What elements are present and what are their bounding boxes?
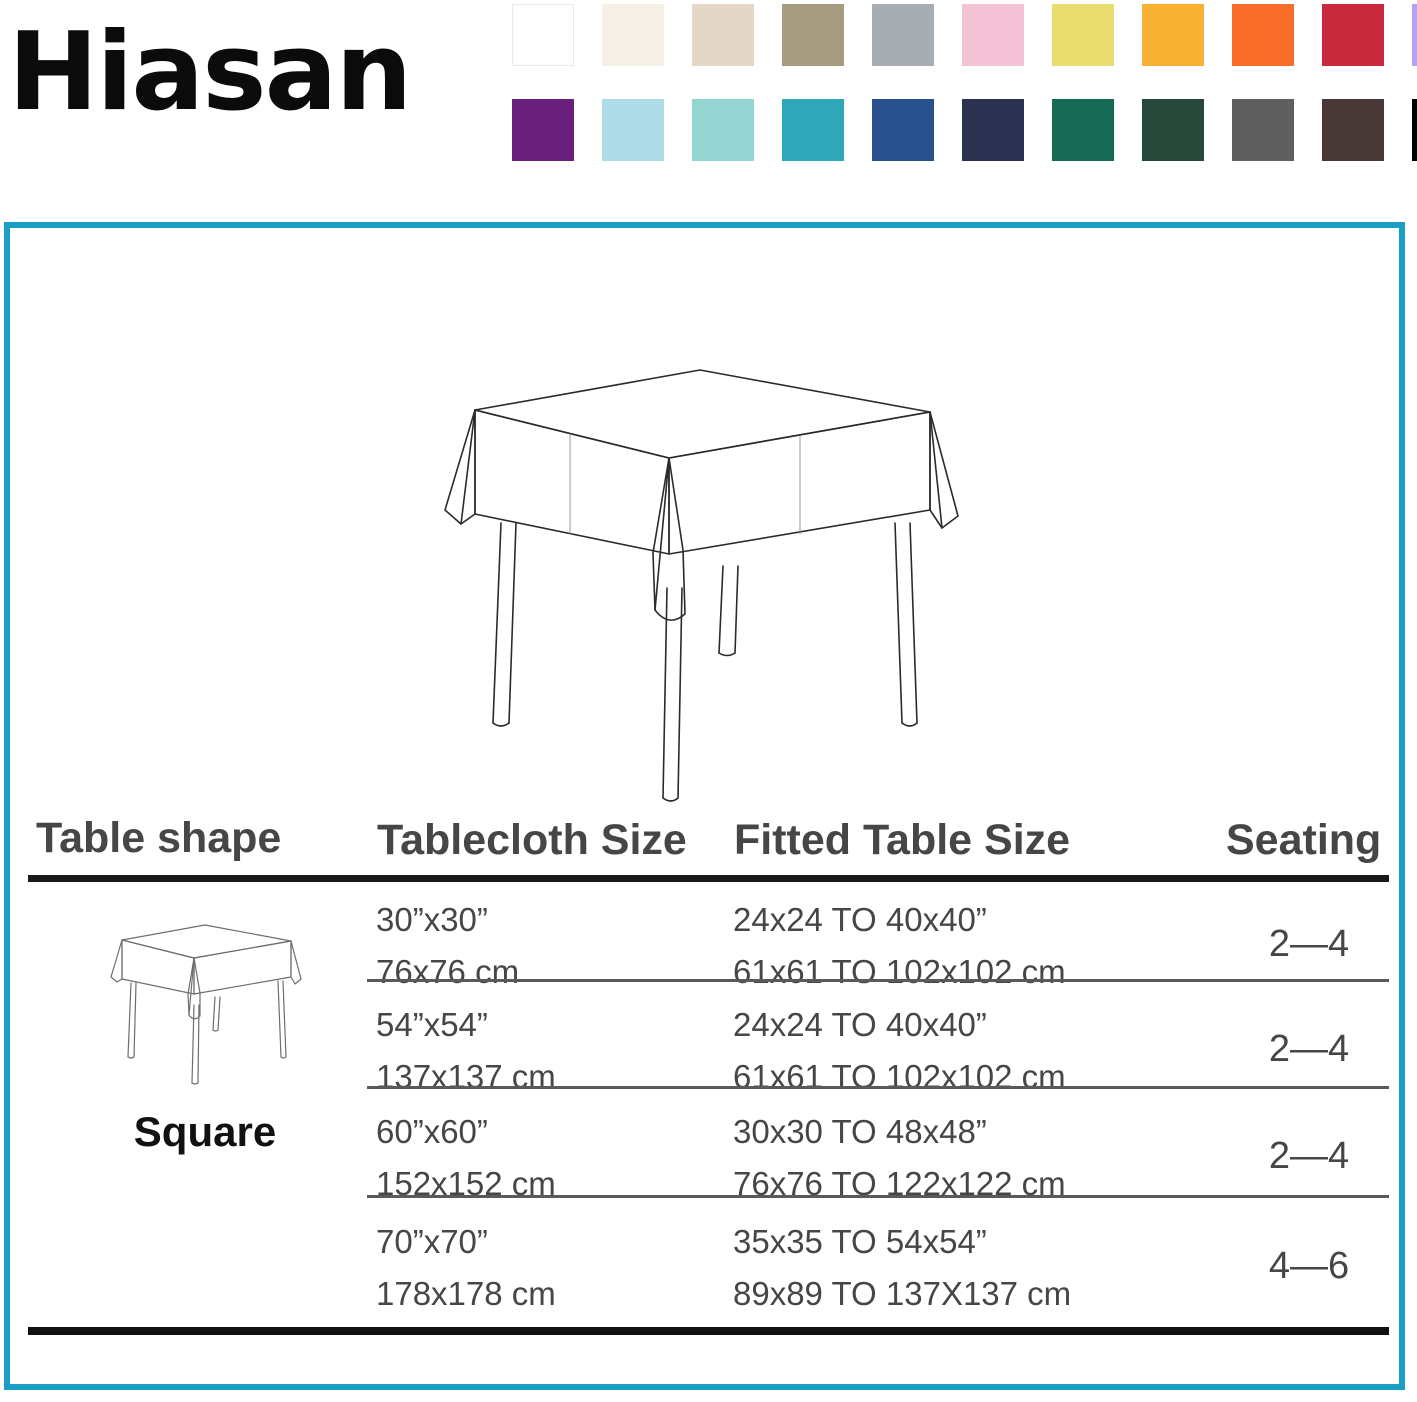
column-header-fitted-table-size: Fitted Table Size [734,815,1070,865]
swatch-row-1 [512,4,1412,66]
cell-fitted-table-size-cm-2: 61x61 TO 102x102 cm [733,1058,1066,1096]
cell-tablecloth-size-inches-3: 60”x60” [376,1113,488,1151]
cell-seating-4: 4—6 [1226,1247,1392,1285]
cell-tablecloth-size-inches-1: 30”x30” [376,901,488,939]
table-shape-label: Square [60,1108,350,1156]
cell-fitted-table-size-inches-1: 24x24 TO 40x40” [733,901,987,939]
color-swatch-white[interactable] [512,4,574,66]
row-separator-1 [367,979,1389,982]
color-swatch-black[interactable] [1412,99,1417,161]
color-swatch-grid [512,4,1412,194]
color-swatch-red[interactable] [1322,4,1384,66]
cell-fitted-table-size-inches-3: 30x30 TO 48x48” [733,1113,987,1151]
table-header-rule [28,875,1389,882]
cell-tablecloth-size-inches-4: 70”x70” [376,1223,488,1261]
column-header-table-shape: Table shape [36,813,281,863]
cell-tablecloth-size-cm-1: 76x76 cm [376,953,519,991]
size-spec-table: Table shape Tablecloth Size Fitted Table… [10,803,1399,1383]
color-swatch-light-blue[interactable] [602,99,664,161]
row-separator-3 [367,1195,1389,1198]
color-swatch-grey[interactable] [872,4,934,66]
color-swatch-taupe[interactable] [782,4,844,66]
color-swatch-teal[interactable] [782,99,844,161]
color-swatch-charcoal[interactable] [1232,99,1294,161]
brand-logo: Hiasan [8,8,468,138]
color-swatch-beige[interactable] [692,4,754,66]
spec-panel: Table shape Tablecloth Size Fitted Table… [4,222,1405,1390]
color-swatch-purple[interactable] [512,99,574,161]
column-header-tablecloth-size: Tablecloth Size [377,815,687,865]
color-swatch-lavender[interactable] [1412,4,1417,66]
color-swatch-ivory[interactable] [602,4,664,66]
swatch-row-2 [512,99,1412,161]
color-swatch-aqua[interactable] [692,99,754,161]
cell-seating-2: 2—4 [1226,1030,1392,1068]
row-separator-2 [367,1086,1389,1089]
cell-fitted-table-size-inches-4: 35x35 TO 54x54” [733,1223,987,1261]
square-table-illustration [405,338,995,818]
color-swatch-orange[interactable] [1232,4,1294,66]
cell-fitted-table-size-inches-2: 24x24 TO 40x40” [733,1006,987,1044]
color-swatch-gold[interactable] [1142,4,1204,66]
cell-tablecloth-size-cm-2: 137x137 cm [376,1058,556,1096]
color-swatch-emerald[interactable] [1052,99,1114,161]
cell-fitted-table-size-cm-4: 89x89 TO 137X137 cm [733,1275,1071,1313]
cell-tablecloth-size-inches-2: 54”x54” [376,1006,488,1044]
product-infographic: Hiasan [0,0,1417,1402]
color-swatch-yellow[interactable] [1052,4,1114,66]
color-swatch-pink[interactable] [962,4,1024,66]
table-footer-rule [28,1327,1389,1335]
color-swatch-navy-blue[interactable] [872,99,934,161]
cell-seating-3: 2—4 [1226,1137,1392,1175]
cell-seating-1: 2—4 [1226,925,1392,963]
table-shape-cell: Square [60,915,350,1156]
color-swatch-dark-brown[interactable] [1322,99,1384,161]
column-header-seating: Seating [1226,815,1381,865]
color-swatch-forest-green[interactable] [1142,99,1204,161]
square-table-icon [95,915,315,1090]
cell-tablecloth-size-cm-4: 178x178 cm [376,1275,556,1313]
cell-fitted-table-size-cm-1: 61x61 TO 102x102 cm [733,953,1066,991]
color-swatch-dark-navy[interactable] [962,99,1024,161]
